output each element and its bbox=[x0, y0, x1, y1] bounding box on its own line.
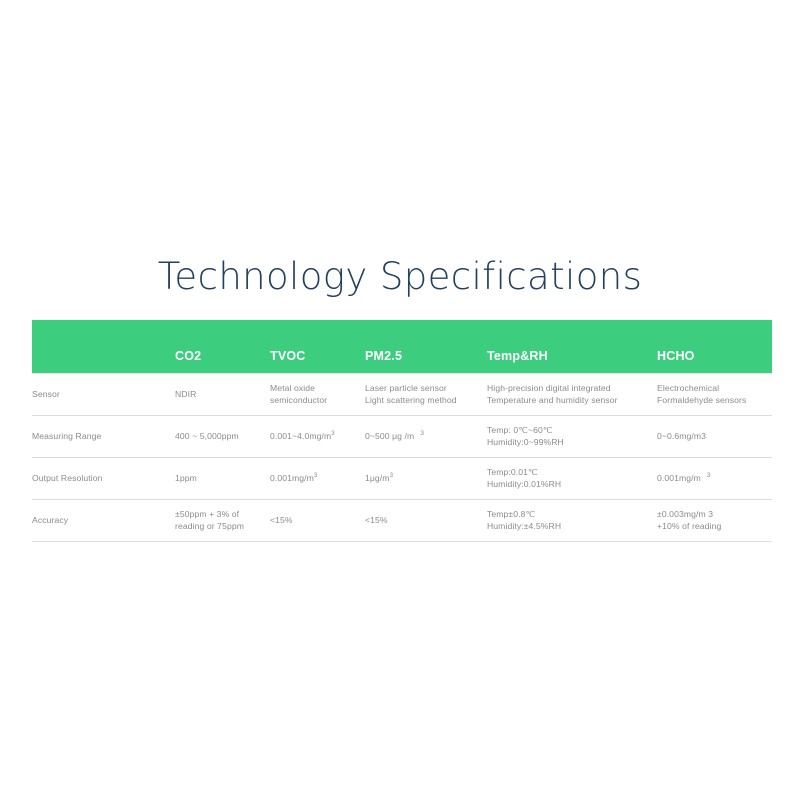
column-header-co2: CO2 bbox=[175, 320, 270, 374]
cell-sensor-co2: NDIR bbox=[175, 374, 270, 416]
cell-sensor-hcho: Electrochemical Formaldehyde sensors bbox=[657, 374, 772, 416]
cell-accuracy-pm25: <15% bbox=[365, 500, 487, 542]
table-body: Sensor NDIR Metal oxide semiconductor La… bbox=[32, 374, 772, 542]
column-header-blank bbox=[32, 320, 175, 374]
table-row: Output Resolution 1ppm 0.001mg/m3 1μg/m3… bbox=[32, 458, 772, 500]
cell-sensor-pm25: Laser particle sensor Light scattering m… bbox=[365, 374, 487, 416]
slide-canvas: Technology Specifications CO2 TVOC PM2.5 bbox=[0, 0, 800, 800]
cell-measuring-range-pm25: 0~500 μg /m3 bbox=[365, 416, 487, 458]
page-title: Technology Specifications bbox=[0, 255, 800, 298]
row-label-measuring-range: Measuring Range bbox=[32, 416, 175, 458]
column-header-hcho: HCHO bbox=[657, 320, 772, 374]
table-row: Measuring Range 400 ~ 5,000ppm 0.001~4.0… bbox=[32, 416, 772, 458]
column-header-hcho-label: HCHO bbox=[657, 331, 772, 363]
cell-accuracy-co2: ±50ppm + 3% of reading or 75ppm bbox=[175, 500, 270, 542]
column-header-temprh: Temp&RH bbox=[487, 320, 657, 374]
table-header-row: CO2 TVOC PM2.5 Temp&RH HCHO bbox=[32, 320, 772, 374]
cell-accuracy-tvoc: <15% bbox=[270, 500, 365, 542]
table-row: Sensor NDIR Metal oxide semiconductor La… bbox=[32, 374, 772, 416]
column-header-temprh-label: Temp&RH bbox=[487, 331, 657, 363]
column-header-pm25-label: PM2.5 bbox=[365, 331, 487, 363]
cell-measuring-range-tvoc: 0.001~4.0mg/m3 bbox=[270, 416, 365, 458]
cell-output-resolution-co2: 1ppm bbox=[175, 458, 270, 500]
column-header-co2-label: CO2 bbox=[175, 331, 270, 363]
cell-accuracy-temprh: Temp±0.8℃ Humidity:±4.5%RH bbox=[487, 500, 657, 542]
cell-sensor-temprh: High-precision digital integrated Temper… bbox=[487, 374, 657, 416]
cell-measuring-range-co2: 400 ~ 5,000ppm bbox=[175, 416, 270, 458]
column-header-pm25: PM2.5 bbox=[365, 320, 487, 374]
cell-output-resolution-pm25: 1μg/m3 bbox=[365, 458, 487, 500]
column-header-blank-label bbox=[32, 338, 175, 356]
column-header-tvoc-label: TVOC bbox=[270, 331, 365, 363]
cell-sensor-tvoc: Metal oxide semiconductor bbox=[270, 374, 365, 416]
table-row: Accuracy ±50ppm + 3% of reading or 75ppm… bbox=[32, 500, 772, 542]
cell-measuring-range-hcho: 0~0.6mg/m3 bbox=[657, 416, 772, 458]
cell-accuracy-hcho: ±0.003mg/m 3 +10% of reading bbox=[657, 500, 772, 542]
column-header-tvoc: TVOC bbox=[270, 320, 365, 374]
table-header: CO2 TVOC PM2.5 Temp&RH HCHO bbox=[32, 320, 772, 374]
cell-measuring-range-temprh: Temp: 0℃~60℃ Humidity:0~99%RH bbox=[487, 416, 657, 458]
cell-output-resolution-tvoc: 0.001mg/m3 bbox=[270, 458, 365, 500]
row-label-accuracy: Accuracy bbox=[32, 500, 175, 542]
row-label-output-resolution: Output Resolution bbox=[32, 458, 175, 500]
technology-specifications-table: CO2 TVOC PM2.5 Temp&RH HCHO Sensor bbox=[32, 320, 772, 542]
row-label-sensor: Sensor bbox=[32, 374, 175, 416]
cell-output-resolution-temprh: Temp:0.01℃ Humidity:0.01%RH bbox=[487, 458, 657, 500]
cell-output-resolution-hcho: 0.001mg/m3 bbox=[657, 458, 772, 500]
